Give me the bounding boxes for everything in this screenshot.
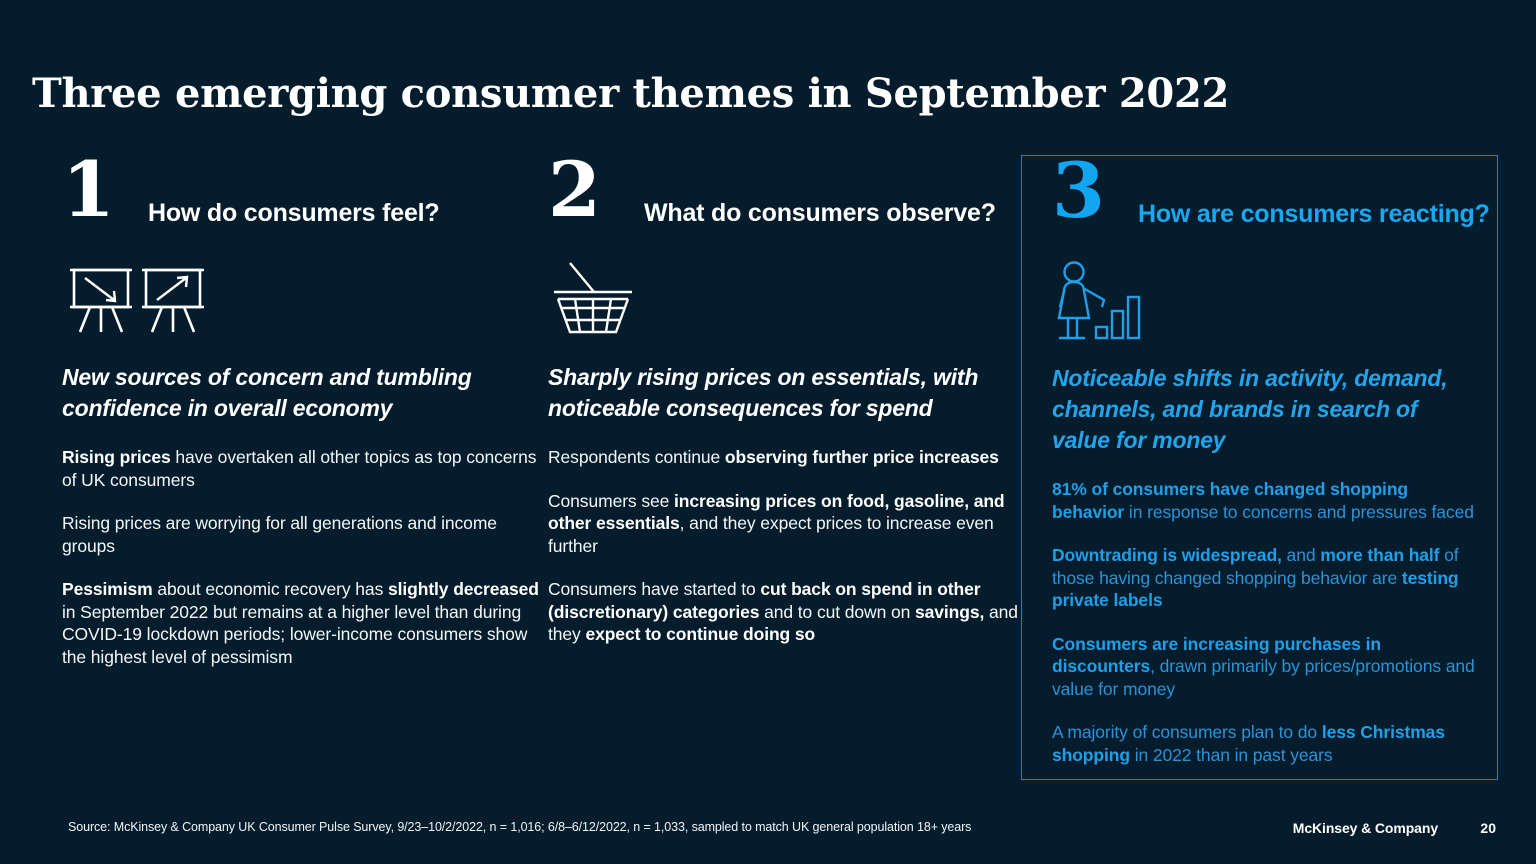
theme-column-1: 1 How do consumers feel?	[62, 155, 542, 780]
slide: Three emerging consumer themes in Septem…	[0, 0, 1536, 864]
body-paragraph: Rising prices have overtaken all other t…	[62, 446, 542, 491]
theme-number-2: 2	[548, 152, 601, 228]
theme-lede-2: Sharply rising prices on essentials, wit…	[548, 362, 1028, 424]
body-paragraph: Consumers are increasing purchases in di…	[1052, 633, 1481, 701]
body-paragraph: Downtrading is widespread, and more than…	[1052, 544, 1481, 612]
theme-question-3: How are consumers reacting?	[1138, 200, 1490, 229]
body-paragraph: Pessimism about economic recovery has sl…	[62, 578, 542, 668]
theme-column-2: 2 What do consumers observe? Sharply ris…	[548, 155, 1028, 780]
emphasis-text: savings,	[915, 602, 984, 622]
theme-body-3: 81% of consumers have changed shopping b…	[1038, 478, 1481, 766]
theme-lede-1: New sources of concern and tumbling conf…	[62, 362, 542, 424]
theme-body-2: Respondents continue observing further p…	[548, 446, 1028, 646]
body-text: Consumers have started to	[548, 579, 760, 599]
theme-body-1: Rising prices have overtaken all other t…	[62, 446, 542, 668]
emphasis-text: slightly decreased	[388, 579, 539, 599]
theme-number-1: 1	[62, 152, 115, 228]
page-title: Three emerging consumer themes in Septem…	[32, 70, 1229, 117]
body-text: in 2022 than in past years	[1130, 745, 1333, 765]
body-text: and to cut down on	[759, 602, 915, 622]
body-text: and	[1282, 545, 1320, 565]
page-number: 20	[1480, 820, 1496, 836]
theme-header-3: 3 How are consumers reacting?	[1038, 156, 1481, 251]
emphasis-text: observing further price increases	[725, 447, 999, 467]
body-text: A majority of consumers plan to do	[1052, 722, 1322, 742]
theme-question-2: What do consumers observe?	[644, 199, 996, 228]
theme-column-3: 3 How are consumers reacting? Noticea	[1021, 155, 1498, 780]
body-text: Rising prices are worrying for all gener…	[62, 513, 497, 556]
body-text: in response to concerns and pressures fa…	[1124, 502, 1474, 522]
body-paragraph: Respondents continue observing further p…	[548, 446, 1028, 469]
emphasis-text: more than half	[1320, 545, 1439, 565]
body-text: Consumers see	[548, 491, 674, 511]
body-paragraph: 81% of consumers have changed shopping b…	[1052, 478, 1481, 523]
source-note: Source: McKinsey & Company UK Consumer P…	[68, 820, 971, 834]
emphasis-text: Pessimism	[62, 579, 153, 599]
brand-mckinsey: McKinsey & Company	[1293, 820, 1438, 836]
theme-header-2: 2 What do consumers observe?	[548, 155, 1028, 250]
themes-columns: 1 How do consumers feel?	[0, 155, 1536, 780]
emphasis-text: expect to continue doing so	[585, 624, 815, 644]
theme-header-1: 1 How do consumers feel?	[62, 155, 542, 250]
body-text: Respondents continue	[548, 447, 725, 467]
theme-question-1: How do consumers feel?	[148, 199, 440, 228]
body-paragraph: Consumers see increasing prices on food,…	[548, 490, 1028, 558]
body-paragraph: Consumers have started to cut back on sp…	[548, 578, 1028, 646]
body-paragraph: Rising prices are worrying for all gener…	[62, 512, 542, 557]
body-text: about economic recovery has	[153, 579, 388, 599]
person-with-bar-chart-icon	[1038, 259, 1481, 349]
shopping-basket-icon	[548, 258, 1028, 348]
theme-number-3: 3	[1052, 153, 1105, 229]
presentation-boards-down-up-arrows-icon	[62, 258, 542, 348]
body-text: in September 2022 but remains at a highe…	[62, 602, 527, 667]
emphasis-text: Downtrading is widespread,	[1052, 545, 1282, 565]
body-paragraph: A majority of consumers plan to do less …	[1052, 721, 1481, 766]
emphasis-text: Rising prices	[62, 447, 171, 467]
theme-lede-3: Noticeable shifts in activity, demand, c…	[1038, 363, 1481, 456]
